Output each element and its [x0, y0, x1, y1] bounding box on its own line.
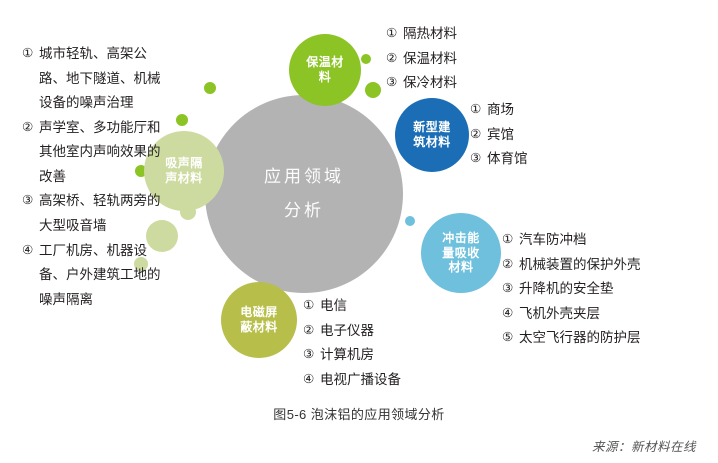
list-item-marker: ③: [502, 277, 519, 300]
list-item: ③体育馆: [470, 147, 600, 172]
bubble-impact-line-2: 量吸收: [442, 246, 480, 261]
list-item: ①电信: [303, 294, 473, 319]
list-item-label: 工厂机房、机器设备、户外建筑工地的噪声隔离: [39, 239, 170, 313]
list-item-label: 太空飞行器的防护层: [519, 326, 702, 351]
list-item-marker: ①: [22, 42, 39, 65]
list-item-label: 宾馆: [487, 123, 600, 148]
decorative-dot: [204, 82, 216, 94]
bubble-impact-energy-absorbing-material[interactable]: 冲击能 量吸收 材料: [421, 213, 501, 293]
figure-source: 来源：新材料在线: [592, 436, 696, 455]
bubble-impact-line-1: 冲击能: [442, 231, 480, 246]
list-item: ②保温材料: [386, 47, 526, 72]
list-emi-shielding-applications: ①电信②电子仪器③计算机房④电视广播设备: [303, 294, 473, 392]
bubble-diagram: 应用领域 分析 保温材 料 吸声隔 声材料 新型建 筑材料 冲击能 量吸收 材料…: [0, 0, 718, 400]
bubble-sound-line-2: 声材料: [165, 171, 203, 186]
hub-line-1: 应用领域: [264, 160, 344, 194]
list-item-label: 飞机外壳夹层: [519, 302, 702, 327]
list-item-marker: ②: [22, 116, 39, 139]
list-item-marker: ②: [470, 123, 487, 146]
hub-bubble-application-domain: 应用领域 分析: [205, 95, 403, 293]
list-building-material-applications: ①商场②宾馆③体育馆: [470, 98, 600, 172]
decorative-dot: [176, 114, 188, 126]
list-item-label: 计算机房: [320, 343, 473, 368]
list-item: ④电视广播设备: [303, 368, 473, 393]
list-item-marker: ①: [470, 98, 487, 121]
list-item-marker: ①: [502, 228, 519, 251]
figure-caption: 图5-6 泡沫铝的应用领域分析: [0, 404, 718, 423]
list-item-marker: ④: [22, 239, 39, 262]
bubble-impact-line-3: 材料: [448, 260, 473, 275]
list-item-label: 电子仪器: [320, 319, 473, 344]
bubble-emi-line-2: 蔽材料: [240, 320, 278, 335]
list-item-marker: ②: [303, 319, 320, 342]
figure-application-domain-analysis: 应用领域 分析 保温材 料 吸声隔 声材料 新型建 筑材料 冲击能 量吸收 材料…: [0, 0, 718, 463]
list-item: ②机械装置的保护外壳: [502, 253, 702, 278]
list-thermal-insulation-applications: ①隔热材料②保温材料③保冷材料: [386, 22, 526, 96]
list-item-label: 体育馆: [487, 147, 600, 172]
list-item-label: 商场: [487, 98, 600, 123]
list-item-label: 汽车防冲档: [519, 228, 702, 253]
list-item: ③升降机的安全垫: [502, 277, 702, 302]
list-item: ②电子仪器: [303, 319, 473, 344]
list-item: ④工厂机房、机器设备、户外建筑工地的噪声隔离: [22, 239, 170, 313]
list-item-marker: ①: [303, 294, 320, 317]
list-item-marker: ③: [22, 189, 39, 212]
list-sound-absorbing-applications: ①城市轻轨、高架公路、地下隧道、机械设备的噪声治理②声学室、多功能厅和其他室内声…: [22, 42, 170, 312]
list-item: ④飞机外壳夹层: [502, 302, 702, 327]
list-item-label: 升降机的安全垫: [519, 277, 702, 302]
bubble-new-building-material[interactable]: 新型建 筑材料: [395, 98, 469, 172]
hub-line-2: 分析: [284, 194, 324, 228]
list-item-marker: ①: [386, 22, 403, 45]
list-item-label: 隔热材料: [403, 22, 526, 47]
list-item-label: 电信: [320, 294, 473, 319]
list-item: ①城市轻轨、高架公路、地下隧道、机械设备的噪声治理: [22, 42, 170, 116]
bubble-sound-line-1: 吸声隔: [165, 156, 203, 171]
list-item: ②宾馆: [470, 123, 600, 148]
decorative-dot: [361, 54, 371, 64]
list-item-marker: ⑤: [502, 326, 519, 349]
list-item: ①商场: [470, 98, 600, 123]
list-item-label: 声学室、多功能厅和其他室内声响效果的改善: [39, 116, 170, 190]
list-item: ③高架桥、轻轨两旁的大型吸音墙: [22, 189, 170, 238]
bubble-emi-shielding-material[interactable]: 电磁屏 蔽材料: [221, 282, 297, 358]
list-item-marker: ③: [303, 343, 320, 366]
bubble-building-line-1: 新型建: [413, 120, 451, 135]
list-impact-absorbing-applications: ①汽车防冲档②机械装置的保护外壳③升降机的安全垫④飞机外壳夹层⑤太空飞行器的防护…: [502, 228, 702, 351]
bubble-building-line-2: 筑材料: [413, 135, 451, 150]
list-item-label: 保冷材料: [403, 71, 526, 96]
list-item: ⑤太空飞行器的防护层: [502, 326, 702, 351]
bubble-emi-line-1: 电磁屏: [240, 305, 278, 320]
list-item-marker: ③: [386, 71, 403, 94]
list-item-label: 城市轻轨、高架公路、地下隧道、机械设备的噪声治理: [39, 42, 170, 116]
list-item-label: 保温材料: [403, 47, 526, 72]
list-item-marker: ②: [502, 253, 519, 276]
list-item: ②声学室、多功能厅和其他室内声响效果的改善: [22, 116, 170, 190]
list-item-marker: ③: [470, 147, 487, 170]
bubble-thermal-line-1: 保温材: [306, 55, 344, 70]
list-item-label: 高架桥、轻轨两旁的大型吸音墙: [39, 189, 170, 238]
list-item-label: 电视广播设备: [320, 368, 473, 393]
list-item-marker: ④: [303, 368, 320, 391]
bubble-thermal-insulation-material[interactable]: 保温材 料: [289, 34, 361, 106]
list-item: ①汽车防冲档: [502, 228, 702, 253]
decorative-dot: [365, 82, 381, 98]
list-item-label: 机械装置的保护外壳: [519, 253, 702, 278]
list-item: ①隔热材料: [386, 22, 526, 47]
list-item-marker: ④: [502, 302, 519, 325]
list-item-marker: ②: [386, 47, 403, 70]
list-item: ③计算机房: [303, 343, 473, 368]
decorative-dot: [405, 216, 415, 226]
list-item: ③保冷材料: [386, 71, 526, 96]
bubble-thermal-line-2: 料: [319, 70, 332, 85]
